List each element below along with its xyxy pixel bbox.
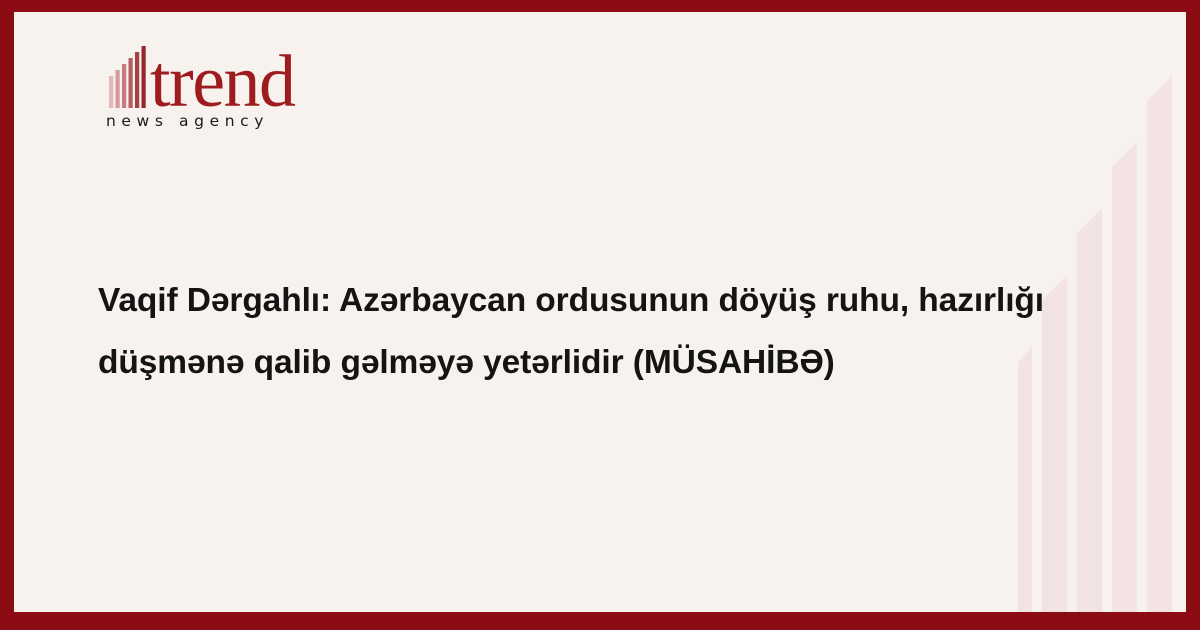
trend-logo[interactable]: trend news agency [98, 42, 398, 142]
trend-wordmark-icon: trend [98, 42, 358, 108]
card-canvas: trend news agency Vaqif Dərgahlı: Azərba… [14, 12, 1186, 612]
trend-wordmark-text: trend [150, 42, 296, 108]
logo-tagline: news agency [106, 112, 269, 130]
headline: Vaqif Dərgahlı: Azərbaycan ordusunun döy… [98, 270, 1098, 394]
social-share-card: trend news agency Vaqif Dərgahlı: Azərba… [0, 0, 1200, 630]
